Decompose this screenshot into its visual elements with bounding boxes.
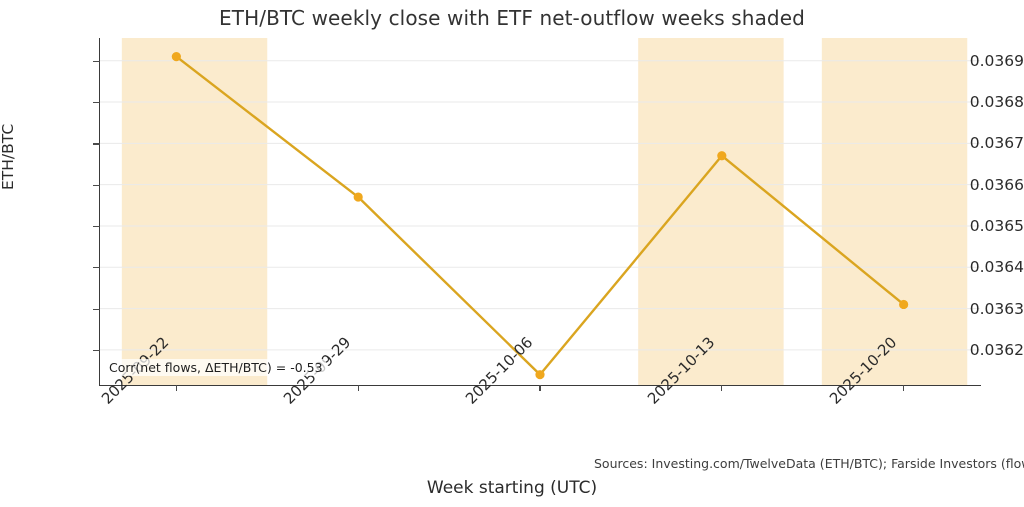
x-tick-mark [721,385,722,391]
data-point-marker [535,370,544,379]
y-tick-mark [93,226,100,227]
outflow-shaded-band [638,38,783,385]
y-axis-spine [99,38,100,386]
data-point-marker [354,192,363,201]
y-tick-label: 0.0366 [938,176,1024,194]
outflow-shaded-band [122,38,267,385]
x-tick-mark [539,385,540,391]
y-tick-label: 0.0367 [938,134,1024,152]
x-tick-mark [358,385,359,391]
y-tick-mark [93,61,100,62]
data-point-marker [899,300,908,309]
y-tick-mark [93,102,100,103]
outflow-shaded-band [822,38,967,385]
data-point-marker [172,52,181,61]
y-axis-label: ETH/BTC [0,124,17,190]
y-tick-mark [93,309,100,310]
y-tick-label: 0.0364 [938,258,1024,276]
y-tick-label: 0.0369 [938,52,1024,70]
shaded-regions-group [122,38,967,385]
source-note: Sources: Investing.com/TwelveData (ETH/B… [594,456,1024,471]
y-tick-mark [93,185,100,186]
y-tick-label: 0.0363 [938,300,1024,318]
x-axis-label: Week starting (UTC) [0,478,1024,498]
x-tick-mark [176,385,177,391]
y-tick-mark [93,350,100,351]
data-point-marker [717,151,726,160]
y-tick-label: 0.0362 [938,341,1024,359]
data-markers-group [172,52,908,379]
chart-figure: ETH/BTC weekly close with ETF net-outflo… [0,0,1024,507]
y-tick-label: 0.0365 [938,217,1024,235]
correlation-annotation: Corr(net flows, ΔETH/BTC) = -0.53 [106,359,326,376]
data-line-group [176,57,903,375]
x-tick-mark [903,385,904,391]
y-tick-label: 0.0368 [938,93,1024,111]
plot-area [100,38,980,385]
y-tick-mark [93,267,100,268]
chart-title: ETH/BTC weekly close with ETF net-outflo… [0,6,1024,30]
data-line [176,57,903,375]
y-tick-mark [93,143,100,144]
plot-canvas [100,38,980,385]
